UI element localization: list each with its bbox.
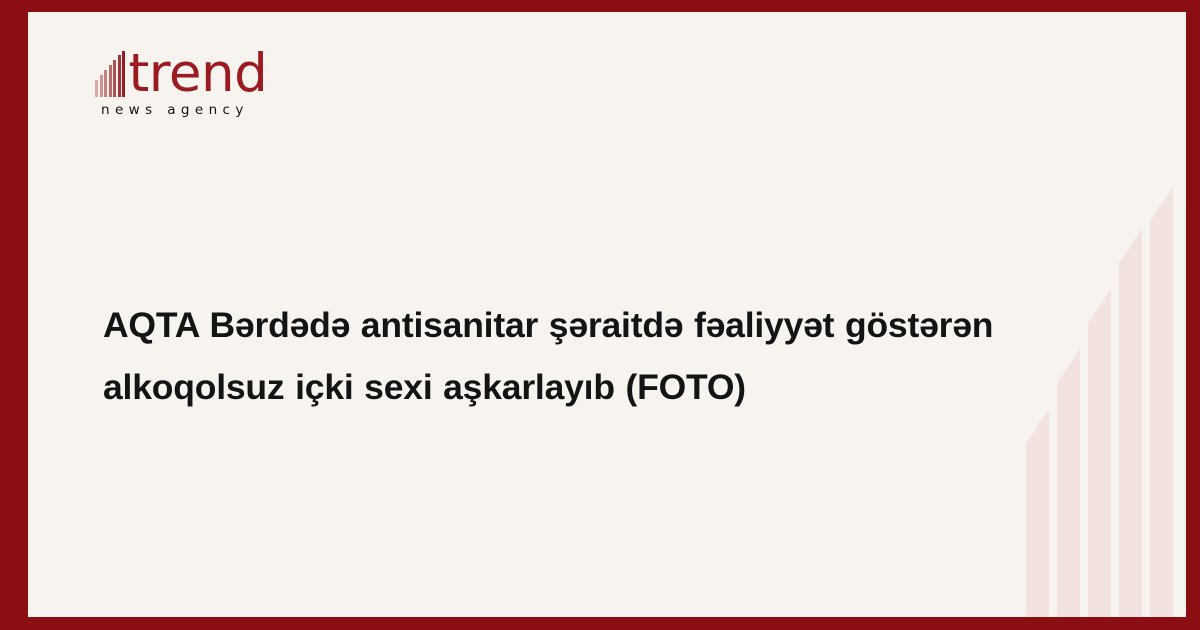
article-headline: AQTA Bərdədə antisanitar şəraitdə fəaliy… <box>103 294 1063 418</box>
watermark-bar-3 <box>1088 289 1111 617</box>
logo-bar-7 <box>122 51 125 97</box>
logo-bar-2 <box>100 75 103 97</box>
trend-news-agency-logo[interactable]: trend news agency <box>95 45 325 118</box>
logo-mark: trend <box>95 45 325 97</box>
logo-bar-1 <box>95 80 98 97</box>
logo-bar-5 <box>113 60 116 97</box>
watermark-bar-5 <box>1150 187 1173 617</box>
card-canvas: trend news agency AQTA Bərdədə antisanit… <box>28 12 1186 617</box>
logo-bar-3 <box>104 70 107 97</box>
watermark-bar-1 <box>1026 409 1049 617</box>
social-share-card: trend news agency AQTA Bərdədə antisanit… <box>0 0 1200 630</box>
watermark-bar-4 <box>1119 229 1142 617</box>
logo-bar-6 <box>118 55 121 97</box>
logo-wordmark: trend <box>129 47 268 100</box>
logo-tagline: news agency <box>101 102 325 118</box>
ascending-bars-icon <box>95 51 127 97</box>
logo-bar-4 <box>109 65 112 97</box>
